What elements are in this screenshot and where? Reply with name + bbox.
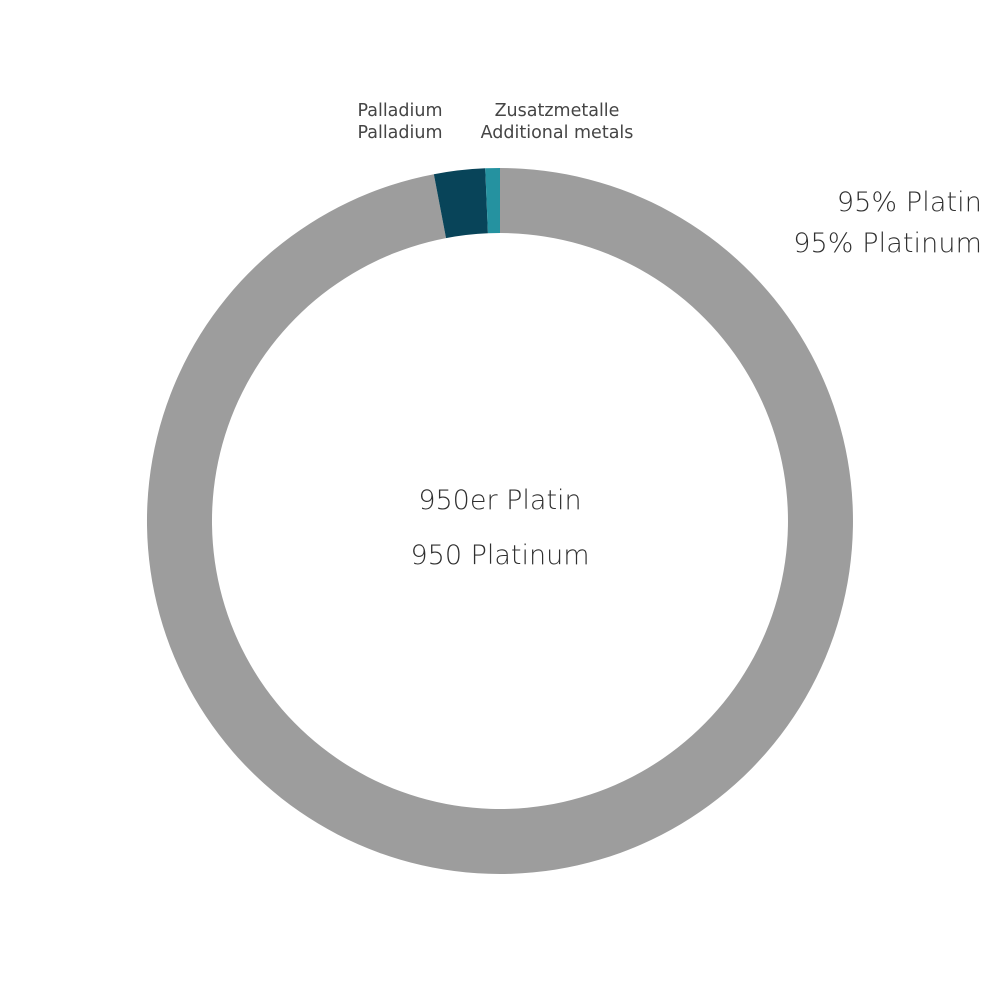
donut-center-label-de: 950er Platin [410, 474, 589, 529]
callout-additional-metals-label-de: Zusatzmetalle [481, 100, 634, 122]
donut-chart: Palladium Palladium Zusatzmetalle Additi… [0, 0, 1000, 1000]
callout-additional-metals-label-en: Additional metals [481, 122, 634, 144]
callout-palladium-label-de: Palladium [357, 100, 442, 122]
callout-platinum-percentage: 95% Platin 95% Platinum [793, 182, 982, 264]
callout-palladium-label-en: Palladium [357, 122, 442, 144]
callout-palladium: Palladium Palladium [357, 100, 442, 145]
donut-center-label: 950er Platin 950 Platinum [410, 474, 589, 584]
donut-center-label-en: 950 Platinum [410, 529, 589, 584]
callout-additional-metals: Zusatzmetalle Additional metals [481, 100, 634, 145]
callout-platinum-label-en: 95% Platinum [793, 223, 982, 264]
callout-platinum-label-de: 95% Platin [793, 182, 982, 223]
